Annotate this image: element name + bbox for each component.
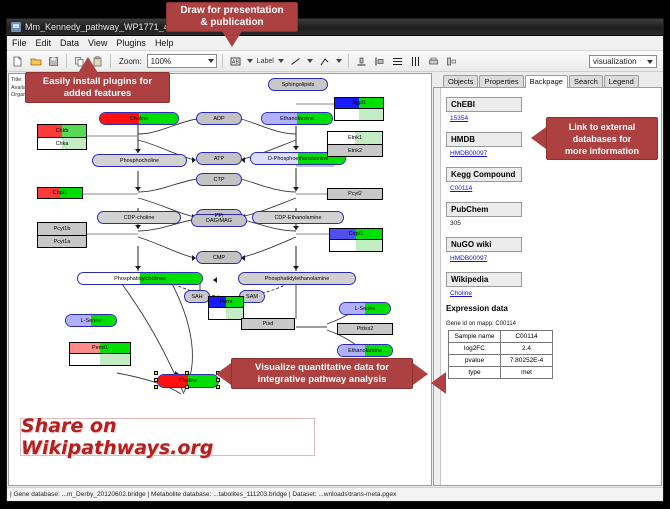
selection-handle[interactable] <box>185 385 189 389</box>
menubar: File Edit Data View Plugins Help <box>7 36 663 51</box>
gene-pemt-lower[interactable] <box>208 308 244 320</box>
selection-handle[interactable] <box>154 371 158 375</box>
table-cell-key: pvalue <box>449 355 501 367</box>
gene-label: Cept1 <box>349 231 364 237</box>
save-icon[interactable] <box>46 54 61 69</box>
node-atp[interactable]: ATP <box>196 152 242 165</box>
toolbar-separator <box>110 54 111 68</box>
entry-pubchem: PubChem 305 <box>446 199 661 227</box>
node-ethanolamine-bottom[interactable]: Ethanolamine <box>337 344 393 357</box>
gene-label: Sgpl1 <box>352 100 366 106</box>
callout-plugins: Easily install plugins for added feature… <box>25 72 170 103</box>
gene-chkb[interactable]: Chkb <box>38 125 86 137</box>
gene-etnk1[interactable]: Etnk1 <box>328 132 382 144</box>
menu-item-edit[interactable]: Edit <box>36 38 52 48</box>
callout-plugins-line2: added features <box>64 88 132 100</box>
window-titlebar: Mm_Kennedy_pathway_WP1771_45176.gpml <box>7 19 663 36</box>
chevron-down-icon[interactable] <box>647 60 653 64</box>
node-ethanolamine[interactable]: Ethanolamine <box>261 112 333 125</box>
arrowhead-icon <box>293 146 299 150</box>
arrowhead-icon <box>213 277 217 283</box>
node-l-serine-left[interactable]: L-Serine <box>65 314 117 327</box>
entry-header: PubChem <box>446 202 522 217</box>
visualization-select[interactable]: visualization <box>589 55 657 68</box>
node-label: ADP <box>213 116 224 122</box>
gene-group-chk[interactable]: Chkb Chka <box>37 124 87 150</box>
distribute-vertical-icon[interactable] <box>390 54 405 69</box>
tab-search[interactable]: Search <box>569 75 603 87</box>
visualization-value: visualization <box>593 57 637 66</box>
node-label: SAH <box>191 294 202 300</box>
gene-label: Etnk1 <box>348 135 362 141</box>
node-label: ATP <box>214 156 224 162</box>
gene-label: Pemt1 <box>92 345 108 351</box>
expression-data-title: Expression data <box>446 304 661 313</box>
selection-handle[interactable] <box>154 385 158 389</box>
statusbar: | Gene database: ...m_Derby_20120602.bri… <box>7 487 663 501</box>
entry-header: ChEBI <box>446 97 522 112</box>
distribute-horizontal-icon[interactable] <box>408 54 423 69</box>
callout-link-databases: Link to external databases for more info… <box>546 117 658 160</box>
gene-chka[interactable]: Chka <box>38 137 86 149</box>
entry-value: 305 <box>450 220 661 227</box>
zoom-value: 100% <box>151 57 171 66</box>
table-row: log2FC 2.4 <box>449 343 553 355</box>
node-label: DAG/MAG <box>206 218 232 224</box>
menu-item-data[interactable]: Data <box>60 38 79 48</box>
arrowhead-icon <box>135 225 141 229</box>
tab-objects[interactable]: Objects <box>443 75 478 87</box>
node-label: CDP-choline <box>124 215 155 221</box>
selection-handle[interactable] <box>185 371 189 375</box>
gene-group-pcyt1[interactable]: Pcyt1b Pcyt1a <box>37 222 87 248</box>
arrowhead-icon <box>293 266 299 270</box>
entry-wikipedia: Wikipedia Choline <box>446 269 661 297</box>
node-label: L-Serine <box>355 306 376 312</box>
menu-item-view[interactable]: View <box>88 38 107 48</box>
table-cell-value: 2.4 <box>501 343 553 355</box>
align-bottom-icon[interactable] <box>354 54 369 69</box>
expr-up-half <box>356 240 382 251</box>
gene-cept1-lower[interactable] <box>329 240 383 252</box>
callout-plugins-line1: Easily install plugins for <box>43 76 152 88</box>
gene-label: Pcyt1a <box>54 239 71 245</box>
table-cell-key: type <box>449 367 501 379</box>
gene-sgpl1-lower[interactable] <box>334 109 384 121</box>
chevron-down-icon[interactable] <box>278 59 284 63</box>
chevron-down-icon[interactable] <box>307 59 313 63</box>
order-icon[interactable] <box>444 54 459 69</box>
toolbar: Zoom: 100% AB Label <box>7 51 663 72</box>
menu-item-plugins[interactable]: Plugins <box>116 38 146 48</box>
callout-link-pointer <box>531 127 546 149</box>
tab-properties[interactable]: Properties <box>479 75 523 87</box>
node-phosphatidylcholines[interactable]: Phosphatidylcholines <box>77 272 203 285</box>
table-cell-value: 7.80252E-4 <box>501 355 553 367</box>
entry-header: Wikipedia <box>446 272 522 287</box>
selection-handle[interactable] <box>154 378 158 382</box>
callout-visualize-pointer-left <box>216 363 231 385</box>
gene-label: Chpt1 <box>53 190 68 196</box>
node-label: Phosphatidylcholines <box>114 276 166 282</box>
zoom-input[interactable]: 100% <box>147 54 217 68</box>
toolbar-separator <box>348 54 349 68</box>
gene-pemt[interactable]: Pemt <box>208 296 244 308</box>
gene-pemt1[interactable]: Pemt1 <box>69 342 131 354</box>
expr-up-half <box>100 354 130 365</box>
callout-visualize: Visualize quantitative data for integrat… <box>231 358 413 389</box>
gene-pcyt2[interactable]: Pcyt2 <box>327 188 383 200</box>
gene-sgpl1[interactable]: Sgpl1 <box>334 97 384 109</box>
gene-etnk2[interactable]: Etnk2 <box>328 144 382 156</box>
node-label: L-Serine <box>81 318 102 324</box>
arrowhead-icon <box>293 187 299 191</box>
callout-link-line3: more information <box>565 145 639 157</box>
new-file-icon[interactable] <box>10 54 25 69</box>
callout-draw-line1: Draw for presentation <box>180 5 283 17</box>
entry-kegg-compound: Kegg Compound C00114 <box>446 164 661 192</box>
callout-plugins-pointer <box>78 57 98 73</box>
table-row: Sample name C00114 <box>449 331 553 343</box>
zoom-label: Zoom: <box>119 57 142 66</box>
toolbar-separator <box>222 54 223 68</box>
align-left-icon[interactable] <box>372 54 387 69</box>
gene-id-line: Gene id on mapp: C00114 <box>446 321 661 327</box>
chevron-down-icon[interactable] <box>336 59 342 63</box>
callout-link-line2: databases for <box>573 133 632 145</box>
label-tool-label[interactable]: Label <box>257 58 274 65</box>
table-row: pvalue 7.80252E-4 <box>449 355 553 367</box>
text-box-icon[interactable]: AB <box>228 54 243 69</box>
arrowhead-icon <box>293 226 299 230</box>
app-icon <box>11 22 21 32</box>
arrowhead-icon <box>135 149 141 153</box>
node-phosphatidylethanolamine[interactable]: Phosphatidylethanolamine <box>238 272 356 285</box>
gene-group-etnk[interactable]: Etnk1 Etnk2 <box>327 131 383 157</box>
table-cell-key: log2FC <box>449 343 501 355</box>
node-label: CDP-Ethanolamine <box>274 215 321 221</box>
table-cell-key: Sample name <box>449 331 501 343</box>
gene-label: Chka <box>56 141 69 147</box>
selection-handle[interactable] <box>216 385 220 389</box>
gene-chpt1[interactable]: Chpt1 <box>37 187 83 199</box>
gene-label: Ptdss2 <box>357 326 374 332</box>
entry-link[interactable]: HMDB00097 <box>450 255 661 262</box>
backpage-scrollbar[interactable] <box>434 88 441 485</box>
node-l-serine-right[interactable]: L-Serine <box>339 302 391 315</box>
gene-pcyt1a[interactable]: Pcyt1a <box>38 235 86 247</box>
side-tabs: Objects Properties Backpage Search Legen… <box>433 73 662 88</box>
callout-visualize-line2: integrative pathway analysis <box>258 374 387 386</box>
callout-draw: Draw for presentation & publication <box>166 2 298 32</box>
node-label: Ethanolamine <box>280 116 314 122</box>
share-banner: Share on Wikipathways.org <box>20 418 315 456</box>
statusbar-text: | Gene database: ...m_Derby_20120602.bri… <box>10 491 396 498</box>
callout-link-line1: Link to external <box>569 121 636 133</box>
menu-item-help[interactable]: Help <box>155 38 174 48</box>
callout-visualize-pointer-right <box>413 363 428 385</box>
node-cdp-choline[interactable]: CDP-choline <box>97 211 181 224</box>
callout-visualize-line1: Visualize quantitative data for <box>255 362 389 374</box>
node-adp[interactable]: ADP <box>196 112 242 125</box>
arrow-shape-icon[interactable] <box>317 54 332 69</box>
table-cell-value: met <box>501 367 553 379</box>
gene-pcyt1b[interactable]: Pcyt1b <box>38 223 86 235</box>
entry-link[interactable]: Choline <box>450 290 661 297</box>
toolbar-separator <box>66 54 67 68</box>
expression-table: Sample name C00114 log2FC 2.4 pvalue 7.8… <box>448 330 553 379</box>
node-label: Choline <box>179 378 198 384</box>
node-cdp-ethanolamine[interactable]: CDP-Ethanolamine <box>252 211 344 224</box>
arrowhead-icon <box>135 266 141 270</box>
gene-pemt1-lower[interactable] <box>69 354 131 366</box>
share-text: Share on Wikipathways.org <box>21 415 314 459</box>
svg-text:AB: AB <box>232 59 240 65</box>
callout-draw-line2: & publication <box>200 17 263 29</box>
entry-header: HMDB <box>446 132 522 147</box>
node-phosphocholine[interactable]: Phosphocholine <box>92 154 187 167</box>
node-label: CMP <box>213 255 225 261</box>
node-label: CTP <box>214 177 225 183</box>
entry-header: Kegg Compound <box>446 167 522 182</box>
callout-expression-pointer <box>431 372 446 394</box>
entry-link[interactable]: C00114 <box>450 185 661 192</box>
gene-label: Pcyt1b <box>54 226 71 232</box>
menu-item-file[interactable]: File <box>12 38 27 48</box>
node-sphingolipids[interactable]: Sphingolipids <box>268 78 328 91</box>
node-cmp[interactable]: CMP <box>196 251 242 264</box>
node-ctp[interactable]: CTP <box>196 173 242 186</box>
node-label: Phosphocholine <box>120 158 159 164</box>
node-label: O-Phosphoethanolamine <box>268 156 329 162</box>
gene-label: Pisd <box>263 321 274 327</box>
gene-label: Pcyt2 <box>348 191 362 197</box>
node-label: Ethanolamine <box>348 348 382 354</box>
entry-nugo-wiki: NuGO wiki HMDB00097 <box>446 234 661 262</box>
chevron-down-icon[interactable] <box>208 59 214 63</box>
callout-draw-pointer <box>222 31 242 47</box>
expr-up-half <box>359 109 383 120</box>
entry-header: NuGO wiki <box>446 237 522 252</box>
gene-label: Chkb <box>56 128 69 134</box>
screenshot-root: Mm_Kennedy_pathway_WP1771_45176.gpml Fil… <box>0 0 670 509</box>
open-folder-icon[interactable] <box>28 54 43 69</box>
arrowhead-icon <box>135 187 141 191</box>
tab-backpage[interactable]: Backpage <box>525 75 568 88</box>
chevron-down-icon[interactable] <box>247 59 253 63</box>
gene-label: Pemt <box>220 299 233 305</box>
gene-label: Etnk2 <box>348 148 362 154</box>
node-choline-top[interactable]: Choline <box>99 112 179 125</box>
node-label: Choline <box>130 116 149 122</box>
table-cell-value: C00114 <box>501 331 553 343</box>
node-sah[interactable]: SAH <box>184 290 210 303</box>
tab-legend[interactable]: Legend <box>604 75 639 87</box>
table-row: type met <box>449 367 553 379</box>
node-label: SAM <box>246 294 258 300</box>
gene-ptdss2[interactable]: Ptdss2 <box>337 323 393 335</box>
node-label: Phosphatidylethanolamine <box>265 276 330 282</box>
stack-icon[interactable] <box>426 54 441 69</box>
gene-pisd[interactable]: Pisd <box>241 318 295 330</box>
gene-cept1[interactable]: Cept1 <box>329 228 383 240</box>
line-icon[interactable] <box>288 54 303 69</box>
node-label: Sphingolipids <box>282 82 315 88</box>
